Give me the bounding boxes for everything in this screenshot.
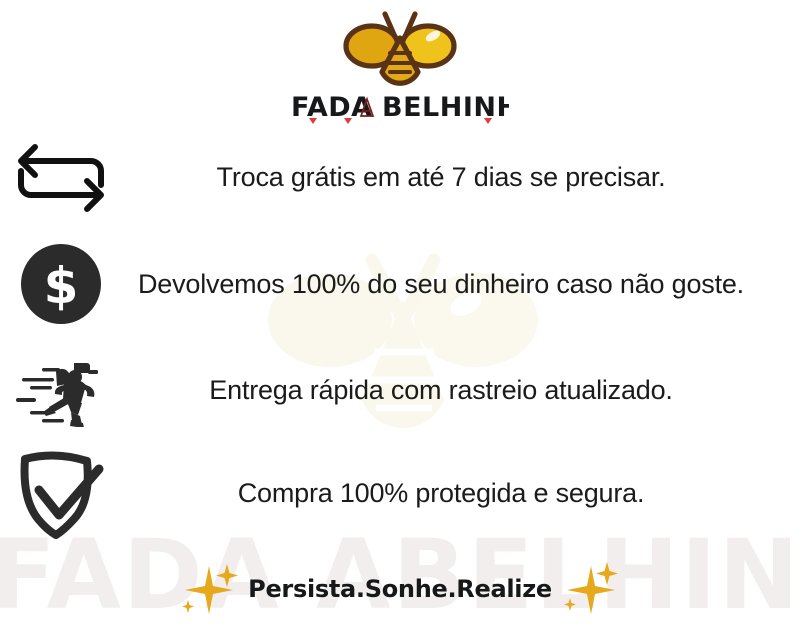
benefit-row-secure: Compra 100% protegida e segura. <box>0 438 800 548</box>
sparkle-star-icon <box>562 562 618 616</box>
benefit-text: Devolvemos 100% do seu dinheiro caso não… <box>122 267 800 302</box>
tagline: Persista.Sonhe.Realize <box>0 562 800 616</box>
benefit-icon-slot <box>0 447 122 539</box>
promo-banner: FADA ABELHINHA FADA BELHINHA <box>0 0 800 636</box>
bee-icon <box>341 8 459 88</box>
shield-check-icon <box>13 447 109 539</box>
svg-text:$: $ <box>44 257 79 315</box>
wordmark-part1-text: FADA <box>291 92 373 123</box>
dollar-circle-icon: $ <box>20 243 102 325</box>
brand-wordmark: FADA BELHINHA <box>291 92 509 126</box>
exchange-arrows-icon <box>13 137 109 219</box>
benefit-text: Entrega rápida com rastreio atualizado. <box>122 373 800 408</box>
benefit-row-refund: $ Devolvemos 100% do seu dinheiro caso n… <box>0 225 800 343</box>
benefit-icon-slot <box>0 355 122 427</box>
benefit-row-exchange: Troca grátis em até 7 dias se precisar. <box>0 130 800 225</box>
running-courier-icon <box>12 355 110 427</box>
benefits-list: Troca grátis em até 7 dias se precisar. … <box>0 130 800 548</box>
benefit-icon-slot <box>0 137 122 219</box>
brand-logo: FADA BELHINHA <box>0 8 800 126</box>
benefit-text: Troca grátis em até 7 dias se precisar. <box>122 160 800 195</box>
benefit-text: Compra 100% protegida e segura. <box>122 476 800 511</box>
benefit-icon-slot: $ <box>0 243 122 325</box>
tagline-text: Persista.Sonhe.Realize <box>242 575 558 603</box>
sparkle-star-icon <box>182 562 238 616</box>
benefit-row-delivery: Entrega rápida com rastreio atualizado. <box>0 343 800 438</box>
